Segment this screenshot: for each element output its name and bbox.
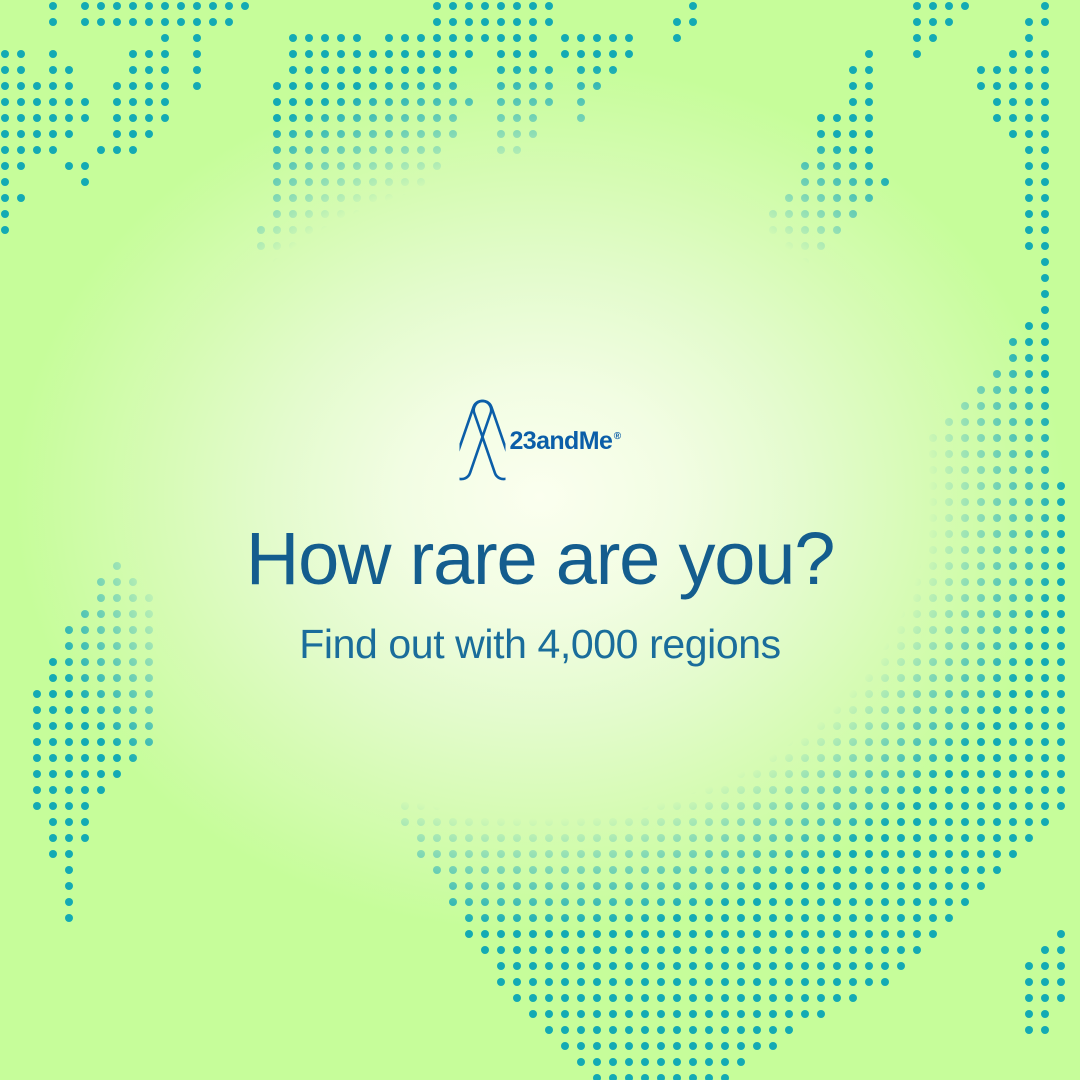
world-map-dot-grid [0,0,1080,1080]
chromosome-x-icon [459,396,505,484]
brand-logo-lockup[interactable]: 23andMe ® [459,396,620,484]
registered-mark-icon: ® [614,432,621,442]
brand-name: 23andMe [509,429,612,454]
poster-canvas: 23andMe ® How rare are you? Find out wit… [0,0,1080,1080]
brand-wordmark: 23andMe ® [509,429,620,454]
